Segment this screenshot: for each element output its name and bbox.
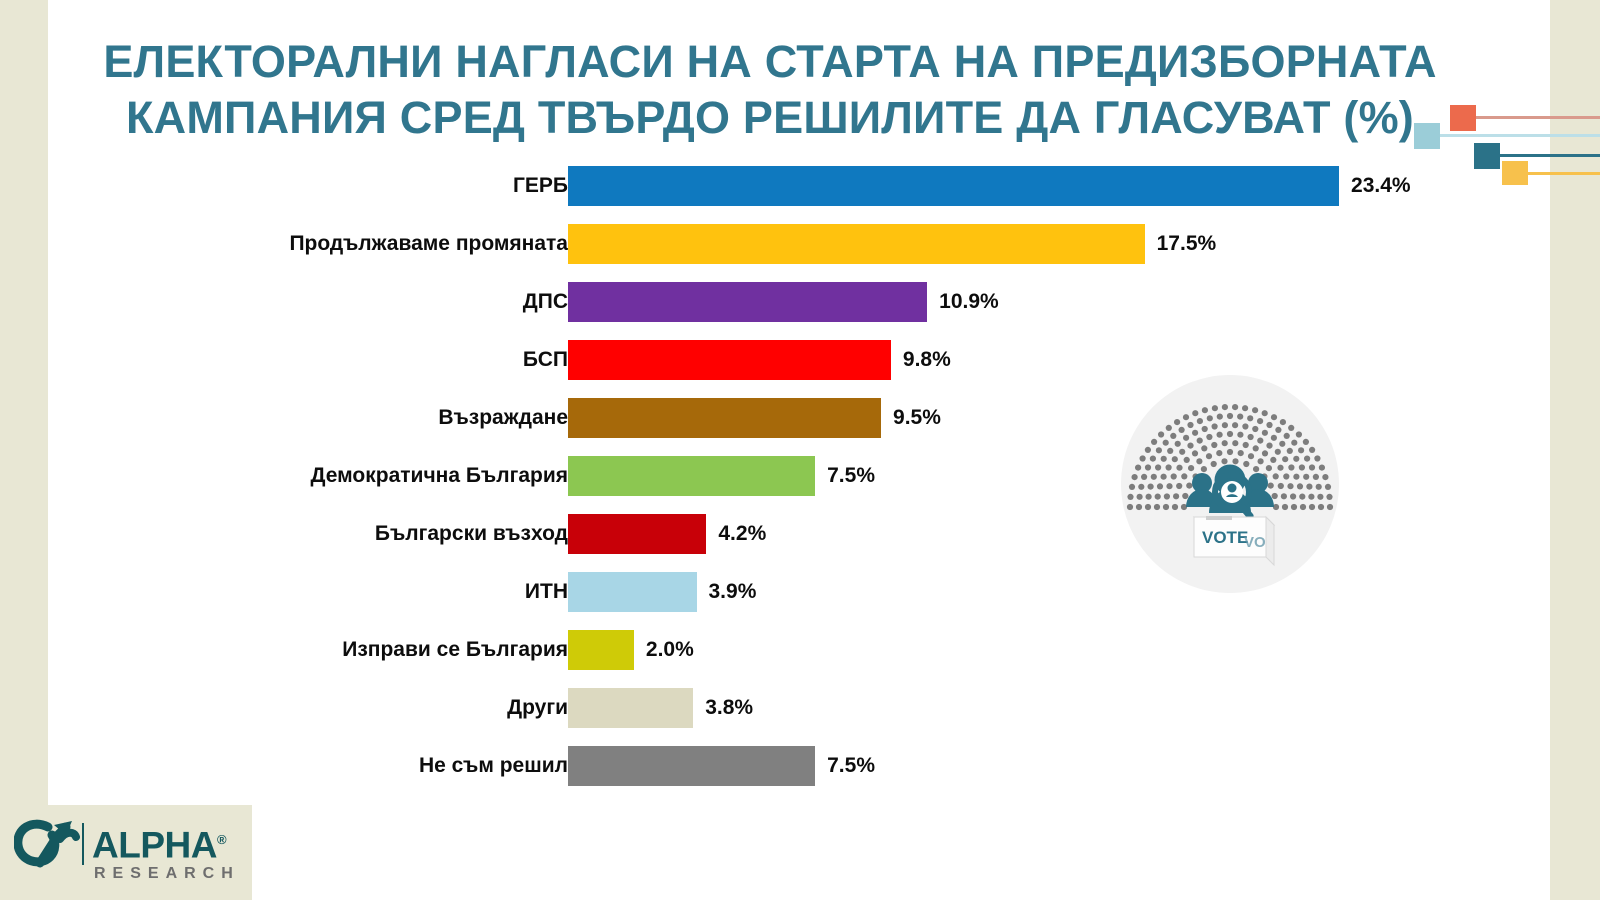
bar-value-label: 9.5%: [893, 398, 941, 438]
bar-rect: [568, 224, 1145, 264]
decoration-line-2: [1440, 134, 1600, 137]
logo-divider: [82, 823, 84, 865]
bar-value-label: 4.2%: [718, 514, 766, 554]
bar-value-label: 3.8%: [705, 688, 753, 728]
bar-row: Изправи се България2.0%: [0, 630, 1600, 670]
bar-rect: [568, 688, 693, 728]
bar-value-label: 7.5%: [827, 456, 875, 496]
bar-row: Не съм решил7.5%: [0, 746, 1600, 786]
logo-primary-text: ALPHA®: [92, 821, 240, 864]
bar-value-label: 3.9%: [709, 572, 757, 612]
bar-rect: [568, 398, 881, 438]
bar-row: Демократична България7.5%: [0, 456, 1600, 496]
bar-row: Възраждане9.5%: [0, 398, 1600, 438]
decoration-line-1: [1476, 116, 1600, 119]
chart-title: ЕЛЕКТОРАЛНИ НАГЛАСИ НА СТАРТА НА ПРЕДИЗБ…: [70, 34, 1470, 146]
decoration-square-2: [1414, 123, 1440, 149]
bar-chart: ГЕРБ23.4%Продължаваме промяната17.5%ДПС1…: [0, 166, 1600, 806]
bar-category-label: Демократична България: [108, 456, 568, 496]
alpha-arrow-icon: [14, 817, 80, 871]
slide-canvas: ЕЛЕКТОРАЛНИ НАГЛАСИ НА СТАРТА НА ПРЕДИЗБ…: [0, 0, 1600, 900]
bar-category-label: Възраждане: [108, 398, 568, 438]
bar-value-label: 17.5%: [1157, 224, 1217, 264]
bar-category-label: Български възход: [108, 514, 568, 554]
bar-row: БСП9.8%: [0, 340, 1600, 380]
bar-value-label: 23.4%: [1351, 166, 1411, 206]
decoration-line-3: [1500, 154, 1600, 157]
bar-rect: [568, 166, 1339, 206]
bar-value-label: 10.9%: [939, 282, 999, 322]
bar-rect: [568, 630, 634, 670]
bar-value-label: 9.8%: [903, 340, 951, 380]
bar-category-label: Не съм решил: [108, 746, 568, 786]
bar-row: ГЕРБ23.4%: [0, 166, 1600, 206]
bar-category-label: Продължаваме промяната: [108, 224, 568, 264]
chart-title-line-1: ЕЛЕКТОРАЛНИ НАГЛАСИ НА СТАРТА НА ПРЕДИЗБ…: [70, 34, 1470, 90]
bar-category-label: Изправи се България: [108, 630, 568, 670]
bar-rect: [568, 282, 927, 322]
bar-rect: [568, 514, 706, 554]
bar-row: Продължаваме промяната17.5%: [0, 224, 1600, 264]
bar-row: ДПС10.9%: [0, 282, 1600, 322]
bar-category-label: ДПС: [108, 282, 568, 322]
logo-secondary-text: RESEARCH: [94, 865, 240, 883]
bar-value-label: 2.0%: [646, 630, 694, 670]
chart-title-line-2: КАМПАНИЯ СРЕД ТВЪРДО РЕШИЛИТЕ ДА ГЛАСУВА…: [70, 90, 1470, 146]
bar-rect: [568, 456, 815, 496]
registered-mark: ®: [217, 832, 226, 847]
bar-rect: [568, 746, 815, 786]
bar-category-label: Други: [108, 688, 568, 728]
bar-rect: [568, 572, 697, 612]
bar-category-label: БСП: [108, 340, 568, 380]
bar-value-label: 7.5%: [827, 746, 875, 786]
bar-rect: [568, 340, 891, 380]
bar-category-label: ГЕРБ: [108, 166, 568, 206]
alpha-research-logo: ALPHA® RESEARCH: [0, 805, 252, 900]
decoration-square-1: [1450, 105, 1476, 131]
bar-category-label: ИТН: [108, 572, 568, 612]
bar-row: ИТН3.9%: [0, 572, 1600, 612]
bar-row: Други3.8%: [0, 688, 1600, 728]
bar-row: Български възход4.2%: [0, 514, 1600, 554]
